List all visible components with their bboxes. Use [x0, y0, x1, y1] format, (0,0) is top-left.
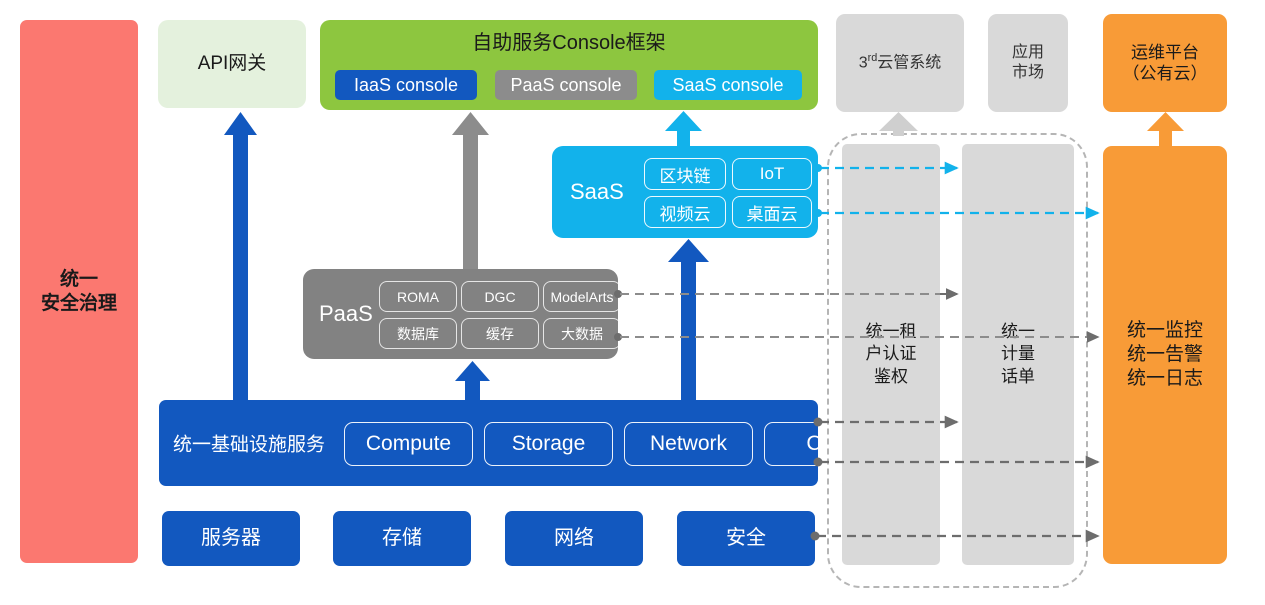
saas-service-label: IoT	[760, 164, 785, 184]
paas-block: PaaS ROMA DGC ModelArts 数据库 缓存 大数据	[303, 269, 618, 359]
arrow-infra-to-paas	[455, 361, 490, 400]
pillar-2-line-2: 计量	[1001, 343, 1035, 365]
paas-service-label: 数据库	[397, 324, 439, 344]
infra-service-label: Compute	[366, 432, 451, 456]
governance-line-2: 安全治理	[41, 292, 117, 316]
ops-panel-line-3: 统一日志	[1127, 367, 1203, 391]
pillar-unified-tenant-auth: 统一租 户认证 鉴权	[842, 144, 940, 565]
paas-service-database[interactable]: 数据库	[379, 318, 457, 349]
paas-service-label: DGC	[484, 289, 515, 305]
infra-service-storage[interactable]: Storage	[484, 422, 613, 466]
pillar-1-line-1: 统一租	[866, 321, 917, 343]
paas-service-roma[interactable]: ROMA	[379, 281, 457, 312]
ops-monitoring-panel: 统一监控 统一告警 统一日志	[1103, 146, 1227, 564]
ops-platform-box: 运维平台 （公有云）	[1103, 14, 1227, 112]
third-party-sup: rd	[868, 52, 878, 64]
infrastructure-label: 统一基础设施服务	[173, 430, 325, 457]
hardware-tile-label: 安全	[726, 526, 766, 551]
governance-panel: 统一 安全治理	[20, 20, 138, 563]
saas-console-label: SaaS console	[672, 74, 783, 97]
infrastructure-bar: 统一基础设施服务 Compute Storage Network CCE	[159, 400, 818, 486]
paas-console-label: PaaS console	[510, 74, 621, 97]
saas-service-video-cloud[interactable]: 视频云	[644, 196, 726, 228]
app-market-line-1: 应用	[1012, 43, 1044, 63]
saas-block-label: SaaS	[570, 179, 624, 205]
arrow-to-ops-platform	[1147, 112, 1184, 146]
ops-panel-line-1: 统一监控	[1127, 319, 1203, 343]
pillar-2-line-3: 话单	[1001, 366, 1035, 388]
pillar-unified-metering-billing: 统一 计量 话单	[962, 144, 1074, 565]
console-frame-title: 自助服务Console框架	[320, 31, 818, 56]
third-party-prefix: 3	[859, 55, 868, 72]
api-gateway-box: API网关	[158, 20, 306, 108]
infra-service-network[interactable]: Network	[624, 422, 753, 466]
paas-service-label: ModelArts	[550, 289, 613, 305]
paas-service-label: 缓存	[486, 324, 514, 344]
saas-service-label: 桌面云	[747, 200, 798, 225]
saas-service-label: 区块链	[660, 162, 711, 187]
saas-block: SaaS 区块链 IoT 视频云 桌面云	[552, 146, 818, 238]
paas-service-label: ROMA	[397, 289, 439, 305]
console-frame: 自助服务Console框架 IaaS console PaaS console …	[320, 20, 818, 110]
api-gateway-label: API网关	[198, 52, 267, 76]
third-party-label: 3rd云管系统	[859, 52, 942, 73]
iaas-console-chip[interactable]: IaaS console	[335, 70, 477, 100]
paas-console-chip[interactable]: PaaS console	[495, 70, 637, 100]
iaas-console-label: IaaS console	[354, 74, 458, 97]
hardware-tile-storage[interactable]: 存储	[333, 511, 471, 566]
hardware-tile-label: 存储	[382, 526, 422, 551]
paas-service-modelarts[interactable]: ModelArts	[543, 281, 621, 312]
paas-service-cache[interactable]: 缓存	[461, 318, 539, 349]
infra-service-label: Network	[650, 432, 727, 456]
arrow-infra-to-api-gateway	[224, 112, 257, 400]
app-market-box: 应用 市场	[988, 14, 1068, 112]
arrow-paas-to-console	[452, 112, 489, 269]
pillar-1-line-3: 鉴权	[866, 366, 917, 388]
pillar-2-line-1: 统一	[1001, 321, 1035, 343]
saas-service-blockchain[interactable]: 区块链	[644, 158, 726, 190]
paas-service-dgc[interactable]: DGC	[461, 281, 539, 312]
hardware-tile-server[interactable]: 服务器	[162, 511, 300, 566]
ops-platform-line-1: 运维平台	[1123, 42, 1208, 63]
app-market-line-2: 市场	[1012, 63, 1044, 83]
hardware-tile-label: 服务器	[201, 526, 261, 551]
third-party-suffix: 云管系统	[877, 55, 941, 72]
hardware-tile-label: 网络	[554, 526, 594, 551]
hardware-tile-security[interactable]: 安全	[677, 511, 815, 566]
paas-service-bigdata[interactable]: 大数据	[543, 318, 621, 349]
pillar-1-line-2: 户认证	[866, 343, 917, 365]
third-party-cloud-mgmt-box: 3rd云管系统	[836, 14, 964, 112]
paas-service-label: 大数据	[561, 324, 603, 344]
saas-service-label: 视频云	[660, 200, 711, 225]
saas-service-desktop-cloud[interactable]: 桌面云	[732, 196, 812, 228]
arrow-saas-to-saas-console	[665, 111, 702, 146]
saas-service-iot[interactable]: IoT	[732, 158, 812, 190]
governance-line-1: 统一	[41, 268, 117, 292]
architecture-diagram: 统一 安全治理 API网关 自助服务Console框架 IaaS console…	[0, 0, 1265, 605]
ops-platform-line-2: （公有云）	[1123, 63, 1208, 84]
paas-block-label: PaaS	[319, 301, 373, 327]
saas-console-chip[interactable]: SaaS console	[654, 70, 802, 100]
arrow-infra-to-saas	[668, 239, 709, 400]
infra-service-label: Storage	[512, 432, 586, 456]
ops-panel-line-2: 统一告警	[1127, 343, 1203, 367]
infra-service-compute[interactable]: Compute	[344, 422, 473, 466]
hardware-tile-network[interactable]: 网络	[505, 511, 643, 566]
